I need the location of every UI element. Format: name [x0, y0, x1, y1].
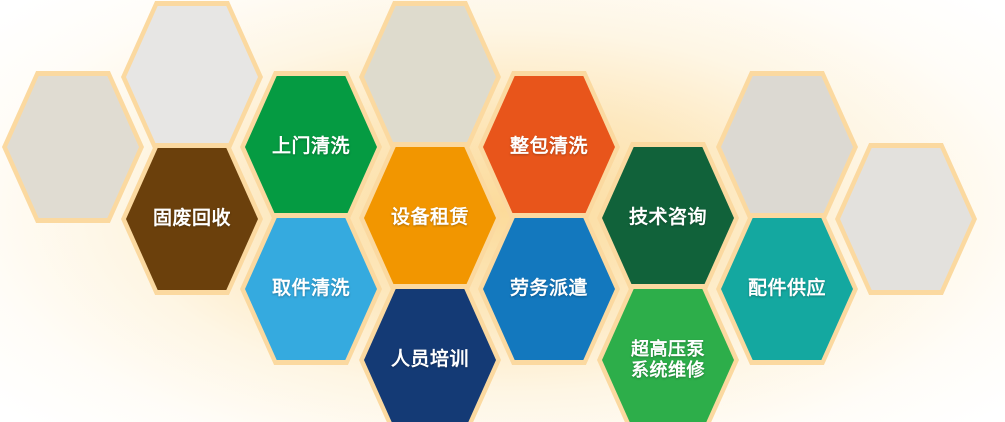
hex-tile-label: 整包清洗 [510, 136, 588, 158]
hex-tile-ren-yuan-pei-xun[interactable]: 人员培训 [364, 289, 496, 422]
hex-tile-shang-men-qing-xi[interactable]: 上门清洗 [245, 76, 377, 218]
hex-tile-zheng-bao-qing-xi[interactable]: 整包清洗 [483, 76, 615, 218]
hex-tile-chao-gao-ya-beng[interactable]: 超高压泵 系统维修 [602, 289, 734, 422]
hex-tile-label: 设备租赁 [391, 207, 469, 229]
decorative-hex-tile [126, 6, 258, 148]
hex-tile-label: 劳务派遣 [510, 278, 588, 300]
hex-tile-label: 配件供应 [748, 278, 826, 300]
hex-tile-label: 技术咨询 [629, 207, 707, 229]
hex-tile-label: 人员培训 [391, 349, 469, 371]
honeycomb-diagram: 固废回收上门清洗取件清洗设备租赁整包清洗人员培训劳务派遣技术咨询超高压泵 系统维… [0, 0, 1005, 422]
decorative-hex-tile [364, 6, 496, 148]
hex-tile-qu-jian-qing-xi[interactable]: 取件清洗 [245, 218, 377, 360]
hex-tile-label: 取件清洗 [272, 278, 350, 300]
hex-tile-lao-wu-pai-qian[interactable]: 劳务派遣 [483, 218, 615, 360]
hex-tile-label: 固废回收 [153, 208, 231, 230]
hex-tile-gu-fei-hui-shou[interactable]: 固废回收 [126, 148, 258, 290]
hex-tile-pei-jian-gong-ying[interactable]: 配件供应 [721, 218, 853, 360]
hex-tile-label: 超高压泵 系统维修 [631, 339, 705, 381]
decorative-hex-tile [7, 76, 139, 218]
hex-tile-label: 上门清洗 [272, 136, 350, 158]
hex-tile-she-bei-zu-lin[interactable]: 设备租赁 [364, 147, 496, 289]
decorative-hex-tile [721, 76, 853, 218]
decorative-hex-tile [840, 148, 972, 290]
hex-tile-ji-shu-zi-xun[interactable]: 技术咨询 [602, 147, 734, 289]
